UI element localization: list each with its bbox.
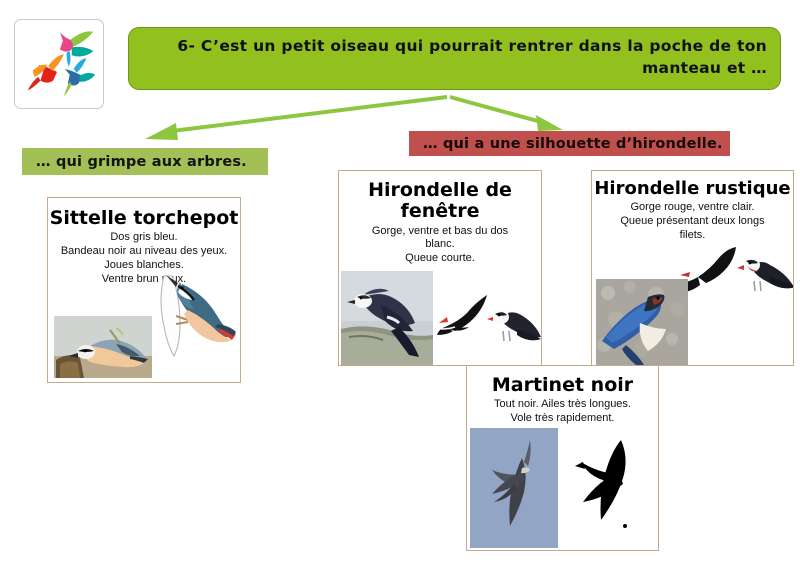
arrow-to-silhouette-hirondelle <box>450 97 563 131</box>
desc-line: Vole très rapidement. <box>473 412 652 426</box>
hummingbirds-logo <box>14 19 104 109</box>
illustration-house-martin-perched <box>487 295 542 353</box>
species-card-sittelle-torchepot[interactable]: Sittelle torchepot Dos gris bleu. Bandea… <box>47 197 241 383</box>
silhouette-swift-flying <box>563 426 655 544</box>
three-hummingbirds-icon <box>15 20 103 108</box>
desc-line: Queue courte. <box>345 252 535 266</box>
photo-house-martin-on-branch <box>341 271 433 365</box>
card-description: Gorge rouge, ventre clair. Queue présent… <box>592 201 793 243</box>
species-card-hirondelle-rustique[interactable]: Hirondelle rustique Gorge rouge, ventre … <box>591 170 794 366</box>
illustration-barn-swallow-perched <box>736 247 794 307</box>
desc-line: filets. <box>598 229 787 243</box>
branch-label-qui-grimpe: … qui grimpe aux arbres. <box>22 148 268 175</box>
identification-key-page: 6- C’est un petit oiseau qui pourrait re… <box>0 0 800 566</box>
question-banner: 6- C’est un petit oiseau qui pourrait re… <box>128 27 781 90</box>
card-title: Hirondelle rustique <box>592 171 793 199</box>
card-description: Gorge, ventre et bas du dos blanc. Queue… <box>339 225 541 267</box>
desc-line: Tout noir. Ailes très longues. <box>473 398 652 412</box>
branch-label-silhouette-hirondelle: … qui a une silhouette d’hirondelle. <box>409 131 730 156</box>
card-title: Martinet noir <box>467 366 658 396</box>
illustration-nuthatch-climbing-down-trunk <box>152 266 238 364</box>
desc-line: Queue présentant deux longs <box>598 215 787 229</box>
desc-line: Dos gris bleu. <box>54 231 234 245</box>
card-title: Hirondelle de fenêtre <box>339 171 541 223</box>
desc-line: blanc. <box>345 238 535 252</box>
photo-barn-swallow-on-rock <box>596 279 688 365</box>
desc-line: Bandeau noir au niveau des yeux. <box>54 245 234 259</box>
card-description: Tout noir. Ailes très longues. Vole très… <box>467 398 658 426</box>
species-card-martinet-noir[interactable]: Martinet noir Tout noir. Ailes très long… <box>466 365 659 551</box>
card-title: Sittelle torchepot <box>48 198 240 229</box>
desc-line: Gorge rouge, ventre clair. <box>598 201 787 215</box>
photo-nuthatch-on-stump <box>54 316 152 378</box>
desc-line: Gorge, ventre et bas du dos <box>345 225 535 239</box>
silhouette-house-martin-flying <box>435 289 495 349</box>
species-card-hirondelle-de-fenetre[interactable]: Hirondelle de fenêtre Gorge, ventre et b… <box>338 170 542 366</box>
photo-swift-in-blue-sky <box>470 428 558 548</box>
arrow-to-qui-grimpe <box>145 97 447 140</box>
